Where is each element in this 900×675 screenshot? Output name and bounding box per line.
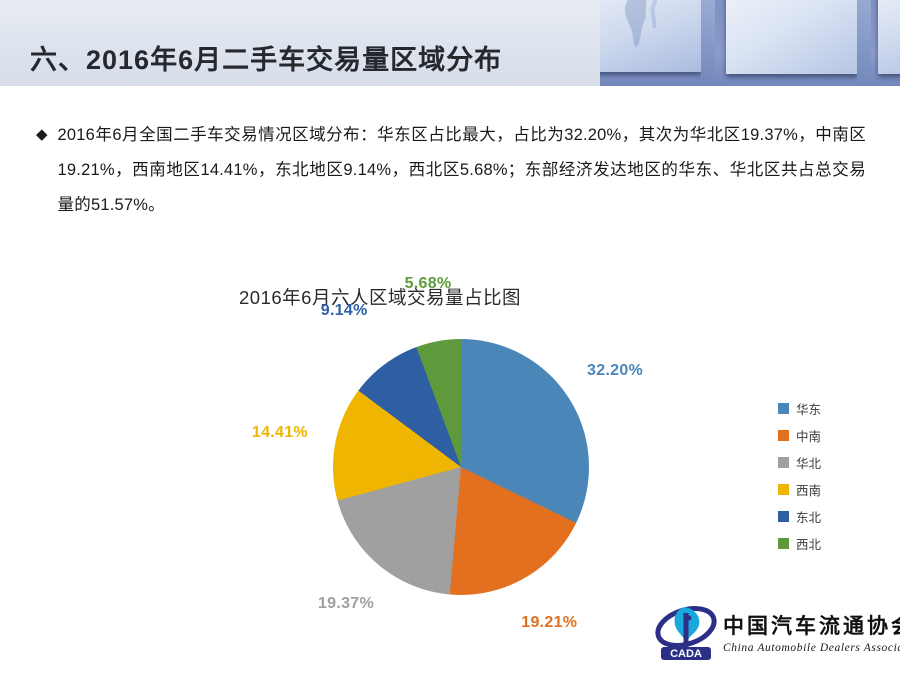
legend-label: 华东	[796, 399, 821, 418]
legend-color-swatch	[778, 403, 789, 414]
pie-slice-label: 19.37%	[318, 595, 374, 613]
slide-canvas: 六、2016年6月二手车交易量区域分布 ◆ 2016年6月全国二手车交易情况区域…	[0, 0, 900, 675]
cada-logo-chinese: 中国汽车流通协会	[723, 610, 900, 640]
legend-item[interactable]: 西南	[778, 476, 878, 503]
header-divider	[0, 86, 900, 89]
chart-area: 2016年6月六人区域交易量占比图 32.20%19.21%19.37%14.4…	[0, 262, 900, 612]
pie-chart: 32.20%19.21%19.37%14.41%9.14%5.68%	[333, 339, 589, 595]
legend-item[interactable]: 东北	[778, 503, 878, 530]
artwork-cube-center	[726, 0, 858, 74]
cada-logo-text: 中国汽车流通协会 China Automobile Dealers Associ…	[723, 610, 900, 654]
legend-label: 西北	[796, 534, 821, 553]
artwork-cube-side	[701, 0, 715, 86]
legend-item[interactable]: 华北	[778, 449, 878, 476]
legend-label: 华北	[796, 453, 821, 472]
cada-logo: CADA 中国汽车流通协会 China Automobile Dealers A…	[655, 600, 893, 664]
legend-color-swatch	[778, 430, 789, 441]
legend-item[interactable]: 华东	[778, 395, 878, 422]
pie-slice-label: 14.41%	[252, 424, 308, 442]
legend-label: 中南	[796, 426, 821, 445]
legend-item[interactable]: 西北	[778, 530, 878, 557]
pie-slice-label: 9.14%	[321, 302, 368, 320]
pie-slice-label: 5.68%	[405, 275, 452, 293]
legend-color-swatch	[778, 538, 789, 549]
diamond-bullet-icon: ◆	[36, 118, 48, 152]
legend-color-swatch	[778, 484, 789, 495]
bullet-paragraph: 2016年6月全国二手车交易情况区域分布：华东区占比最大，占比为32.20%，其…	[58, 118, 866, 223]
chart-title: 2016年6月六人区域交易量占比图	[0, 284, 760, 310]
legend-color-swatch	[778, 457, 789, 468]
artwork-cube-left	[600, 0, 702, 72]
globe-icon	[608, 0, 678, 50]
legend-label: 东北	[796, 507, 821, 526]
artwork-cube-right	[878, 0, 900, 74]
legend-color-swatch	[778, 511, 789, 522]
pie-slice-label: 19.21%	[521, 614, 577, 632]
legend-label: 西南	[796, 480, 821, 499]
pie-graphic	[333, 339, 589, 595]
header-decorative-artwork	[600, 0, 900, 88]
page-title: 六、2016年6月二手车交易量区域分布	[30, 38, 502, 77]
cada-logo-mark-icon: CADA	[655, 603, 717, 661]
legend-item[interactable]: 中南	[778, 422, 878, 449]
svg-text:CADA: CADA	[670, 648, 702, 660]
pie-slice-label: 32.20%	[587, 362, 643, 380]
chart-legend: 华东中南华北西南东北西北	[778, 395, 878, 557]
cada-logo-english: China Automobile Dealers Association	[723, 642, 900, 654]
bullet-block: ◆ 2016年6月全国二手车交易情况区域分布：华东区占比最大，占比为32.20%…	[36, 118, 866, 223]
bullet-row: ◆ 2016年6月全国二手车交易情况区域分布：华东区占比最大，占比为32.20%…	[36, 118, 866, 223]
artwork-cube-side	[857, 0, 871, 88]
